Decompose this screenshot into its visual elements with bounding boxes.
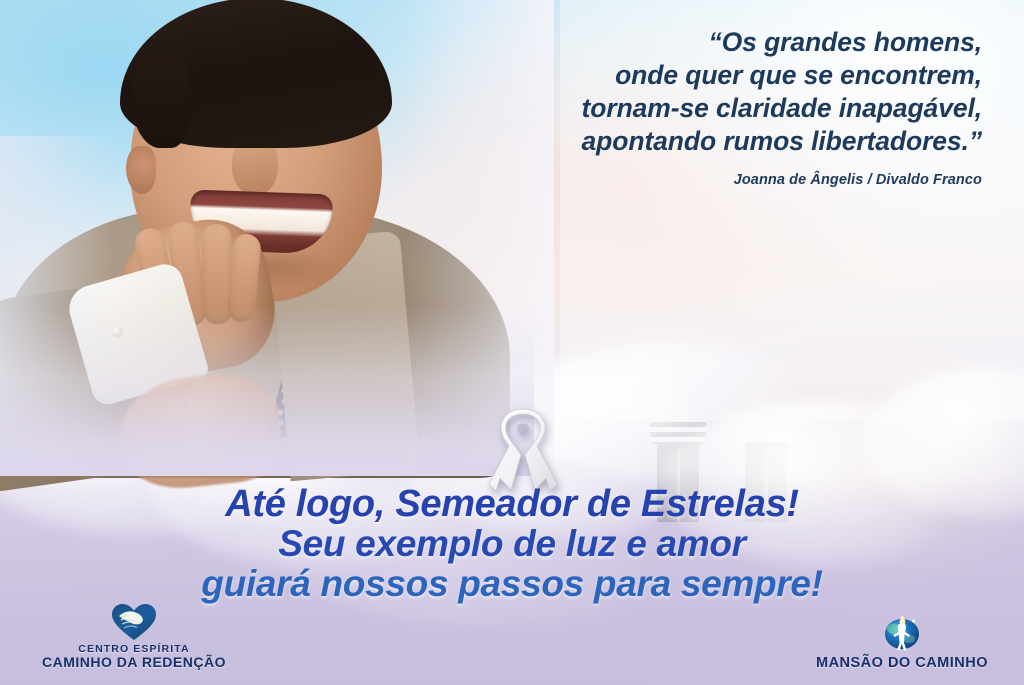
logo-mansao-do-caminho-label: MANSÃO DO CAMINHO xyxy=(816,655,988,671)
logo-centro-espirita-line2: CAMINHO DA REDENÇÃO xyxy=(42,655,226,671)
quote-author: Joanna de Ângelis / Divaldo Franco xyxy=(422,172,982,188)
quote-block: “Os grandes homens, onde quer que se enc… xyxy=(422,26,982,188)
quote-line-1: “Os grandes homens, xyxy=(422,26,982,59)
headline-line-1: Até logo, Semeador de Estrelas! xyxy=(0,484,1024,524)
quote-line-3: tornam-se claridade inapagável, xyxy=(422,92,982,125)
white-awareness-ribbon-icon xyxy=(487,408,559,492)
heart-hand-icon xyxy=(111,603,157,641)
headline-line-2: Seu exemplo de luz e amor xyxy=(0,524,1024,564)
headline-block: Até logo, Semeador de Estrelas! Seu exem… xyxy=(0,484,1024,604)
quote-line-4: apontando rumos libertadores.” xyxy=(422,125,982,158)
logo-centro-espirita: CENTRO ESPÍRITA CAMINHO DA REDENÇÃO xyxy=(34,603,234,671)
logo-mansao-do-caminho: MANSÃO DO CAMINHO xyxy=(792,610,1012,671)
globe-figure-icon xyxy=(879,610,925,652)
headline-line-3: guiará nossos passos para sempre! xyxy=(0,564,1024,604)
memorial-poster: “Os grandes homens, onde quer que se enc… xyxy=(0,0,1024,685)
quote-line-2: onde quer que se encontrem, xyxy=(422,59,982,92)
